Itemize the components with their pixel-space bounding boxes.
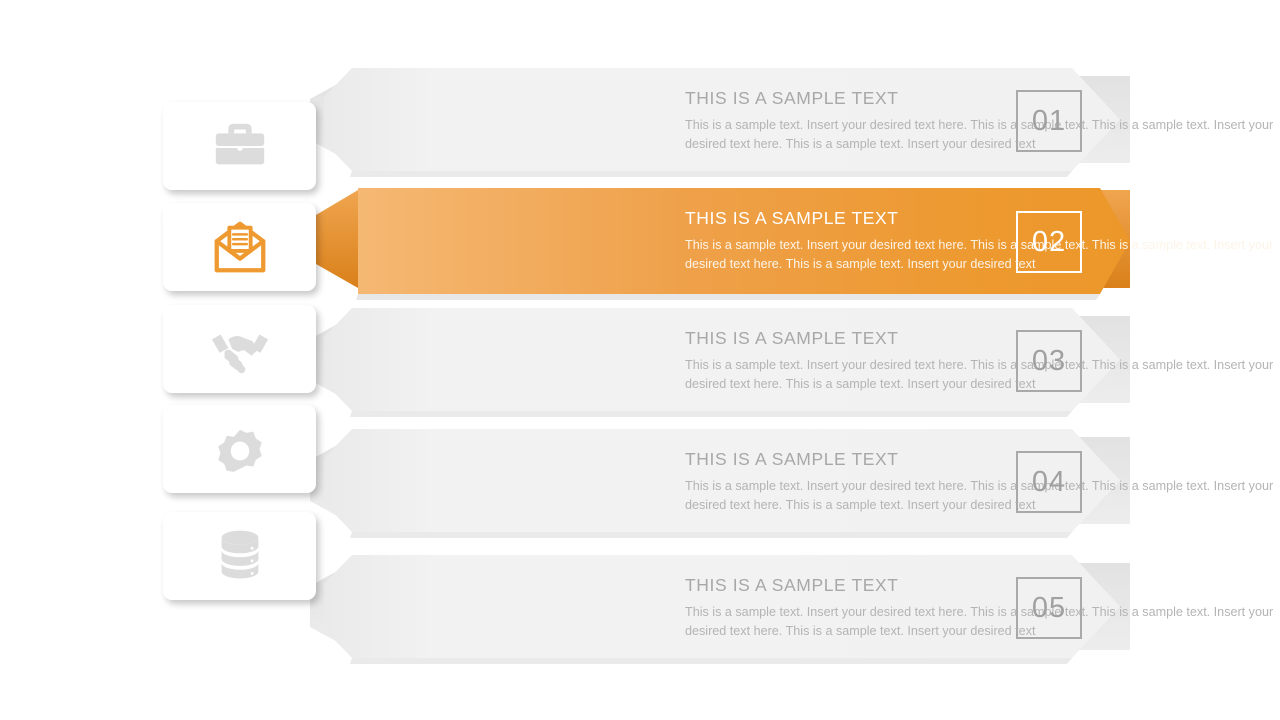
handshake-icon <box>209 318 271 380</box>
row-number-badge: 05 <box>1016 577 1082 639</box>
row-title: THIS IS A SAMPLE TEXT <box>685 449 899 470</box>
gear-icon <box>209 418 271 480</box>
row-body: This is a sample text. Insert your desir… <box>685 477 1280 514</box>
icon-card-4[interactable] <box>163 405 316 493</box>
row-number-badge: 01 <box>1016 90 1082 152</box>
icon-card-5[interactable] <box>163 512 316 600</box>
process-row-2[interactable]: THIS IS A SAMPLE TEXT This is a sample t… <box>310 186 1130 296</box>
process-row-1[interactable]: THIS IS A SAMPLE TEXT This is a sample t… <box>310 68 1130 171</box>
row-title: THIS IS A SAMPLE TEXT <box>685 88 899 109</box>
row-title: THIS IS A SAMPLE TEXT <box>685 328 899 349</box>
icon-card-3[interactable] <box>163 305 316 393</box>
open-envelope-icon <box>209 216 271 278</box>
row-title: THIS IS A SAMPLE TEXT <box>685 208 899 229</box>
row-number-badge: 03 <box>1016 330 1082 392</box>
process-row-3[interactable]: THIS IS A SAMPLE TEXT This is a sample t… <box>310 308 1130 411</box>
row-body: This is a sample text. Insert your desir… <box>685 356 1280 393</box>
row-body: This is a sample text. Insert your desir… <box>685 116 1280 153</box>
icon-card-1[interactable] <box>163 102 316 190</box>
row-body: This is a sample text. Insert your desir… <box>685 603 1280 640</box>
process-row-4[interactable]: THIS IS A SAMPLE TEXT This is a sample t… <box>310 429 1130 532</box>
row-number-badge: 04 <box>1016 451 1082 513</box>
briefcase-icon <box>209 115 271 177</box>
row-number-badge: 02 <box>1016 211 1082 273</box>
row-title: THIS IS A SAMPLE TEXT <box>685 575 899 596</box>
icon-card-2[interactable] <box>163 203 316 291</box>
process-list-diagram: THIS IS A SAMPLE TEXT This is a sample t… <box>0 0 1280 720</box>
row-body: This is a sample text. Insert your desir… <box>685 236 1280 273</box>
database-icon <box>209 525 271 587</box>
process-row-5[interactable]: THIS IS A SAMPLE TEXT This is a sample t… <box>310 555 1130 658</box>
